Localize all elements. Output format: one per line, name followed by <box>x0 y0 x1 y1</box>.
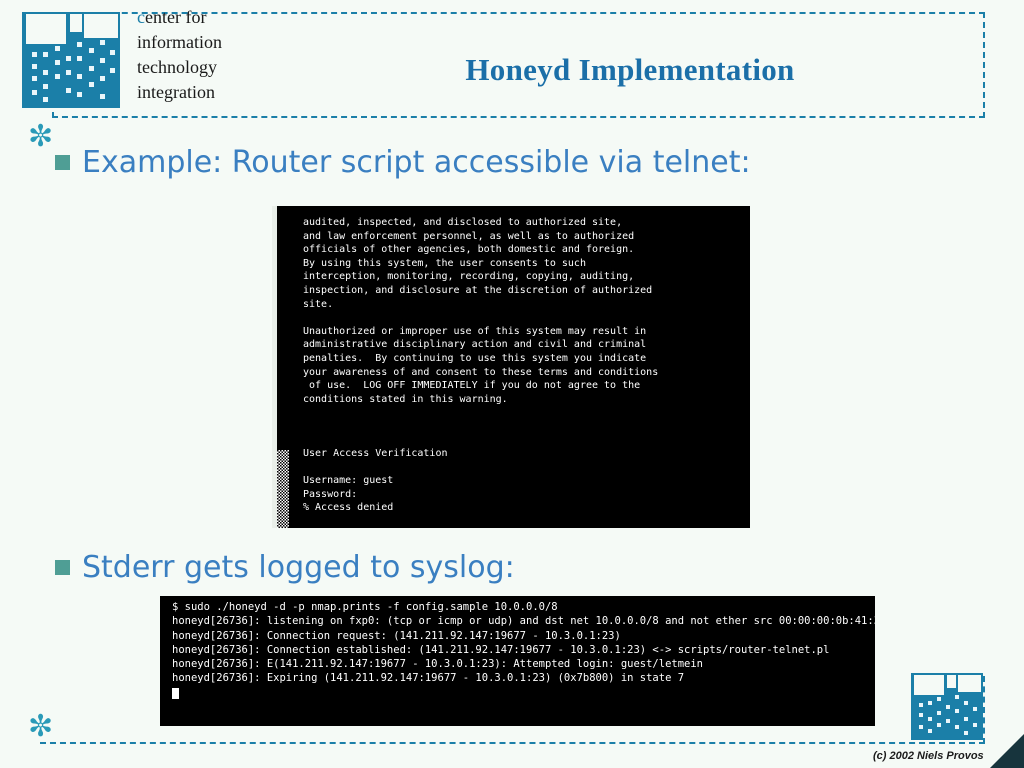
bullet-item-1: Example: Router script accessible via te… <box>55 145 751 180</box>
citi-wordmark: center for information technology integr… <box>137 5 317 105</box>
terminal-line <box>303 311 750 325</box>
footer-dashed-line <box>40 742 985 744</box>
terminal-line <box>303 406 750 420</box>
terminal-line: officials of other agencies, both domest… <box>303 243 750 257</box>
terminal-telnet[interactable]: audited, inspected, and disclosed to aut… <box>277 206 750 528</box>
terminal-scroll-strip[interactable] <box>277 450 289 528</box>
terminal-line: % Access denied <box>303 501 750 515</box>
terminal-line: and law enforcement personnel, as well a… <box>303 230 750 244</box>
bullet-item-2: Stderr gets logged to syslog: <box>55 550 515 585</box>
bullet-marker-icon <box>55 155 70 170</box>
terminal-line: honeyd[26736]: Expiring (141.211.92.147:… <box>172 671 875 685</box>
footer-dashed-line-right <box>983 676 985 744</box>
terminal-line: conditions stated in this warning. <box>303 393 750 407</box>
terminal-line: honeyd[26736]: E(141.211.92.147:19677 - … <box>172 657 875 671</box>
bullet-marker-icon <box>55 560 70 575</box>
terminal-line: site. <box>303 298 750 312</box>
wordmark-line-4: integration <box>137 80 317 105</box>
wordmark-line-1: center for <box>137 5 317 30</box>
terminal-line: penalties. By continuing to use this sys… <box>303 352 750 366</box>
terminal-line: your awareness of and consent to these t… <box>303 366 750 380</box>
terminal-line: honeyd[26736]: Connection established: (… <box>172 643 875 657</box>
terminal-line: inspection, and disclosure at the discre… <box>303 284 750 298</box>
flower-asterisk-icon: ✼ <box>28 712 53 742</box>
flower-asterisk-icon: ✼ <box>28 122 53 152</box>
terminal-line <box>303 420 750 434</box>
page-title: Honeyd Implementation <box>330 52 930 88</box>
terminal-cursor <box>172 688 179 699</box>
terminal-line: audited, inspected, and disclosed to aut… <box>303 216 750 230</box>
terminal-line: interception, monitoring, recording, cop… <box>303 270 750 284</box>
terminal-syslog[interactable]: $ sudo ./honeyd -d -p nmap.prints -f con… <box>160 596 875 726</box>
terminal-cursor-row <box>172 686 875 702</box>
copyright-notice: (c) 2002 Niels Provos <box>873 750 984 762</box>
corner-triangle-decoration <box>990 734 1024 768</box>
bullet-label: Example: Router script accessible via te… <box>82 145 751 180</box>
terminal-line <box>303 434 750 448</box>
bullet-label: Stderr gets logged to syslog: <box>82 550 515 585</box>
wordmark-line-2: information <box>137 30 317 55</box>
terminal-line: administrative disciplinary action and c… <box>303 338 750 352</box>
terminal-line: honeyd[26736]: Connection request: (141.… <box>172 629 875 643</box>
terminal-line: of use. LOG OFF IMMEDIATELY if you do no… <box>303 379 750 393</box>
wordmark-line-3: technology <box>137 55 317 80</box>
terminal-line: Password: <box>303 488 750 502</box>
citi-logo <box>22 12 120 108</box>
terminal-line <box>303 515 750 528</box>
terminal-line: $ sudo ./honeyd -d -p nmap.prints -f con… <box>172 600 875 614</box>
citi-logo-small <box>911 673 983 740</box>
terminal-line: User Access Verification <box>303 447 750 461</box>
terminal-line <box>303 461 750 475</box>
wordmark-rest-1: enter for <box>145 7 206 27</box>
terminal-line: By using this system, the user consents … <box>303 257 750 271</box>
terminal-line: Username: guest <box>303 474 750 488</box>
terminal-line: Unauthorized or improper use of this sys… <box>303 325 750 339</box>
terminal-line: honeyd[26736]: listening on fxp0: (tcp o… <box>172 614 875 628</box>
